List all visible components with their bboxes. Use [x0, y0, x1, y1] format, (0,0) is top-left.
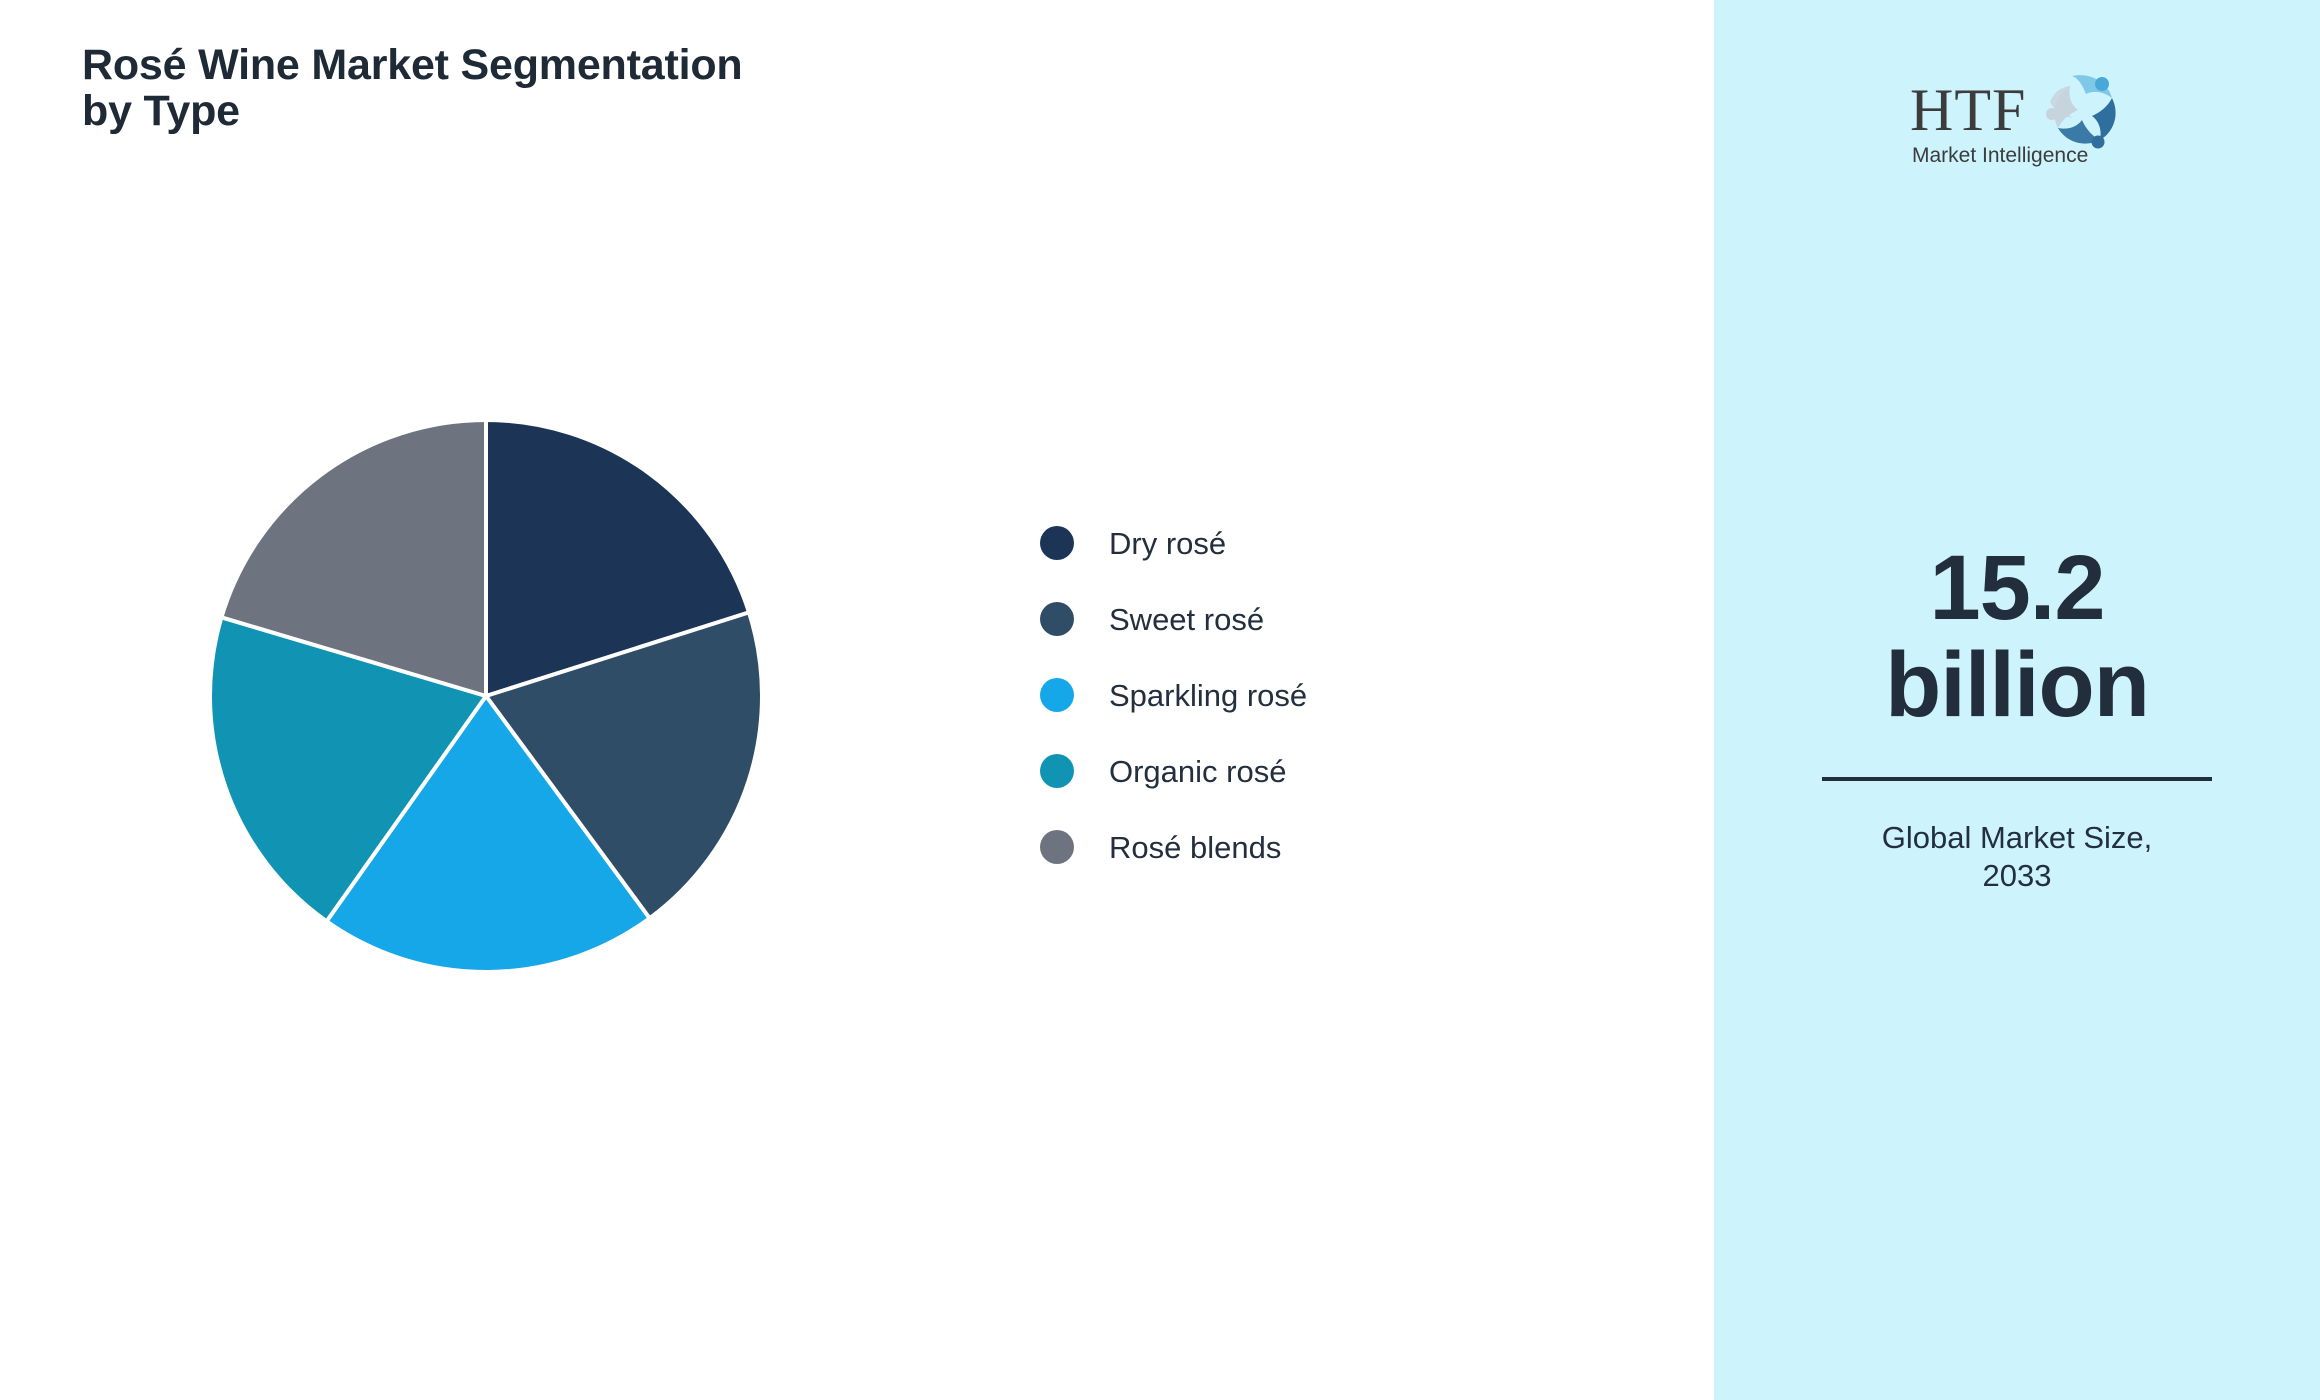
- htf-logo-svg: HTF Market Intelligence: [1902, 62, 2132, 170]
- htf-triskelion-emblem-icon: [2046, 75, 2116, 148]
- page-title: Rosé Wine Market Segmentation by Type: [82, 42, 1012, 135]
- legend-item-sweet-rose[interactable]: Sweet rosé: [1040, 594, 1307, 644]
- legend-item-organic-rose[interactable]: Organic rosé: [1040, 746, 1307, 796]
- legend-item-sparkling-rose[interactable]: Sparkling rosé: [1040, 670, 1307, 720]
- pie-chart: [210, 420, 762, 972]
- stat-block: 15.2 billion Global Market Size, 2033: [1802, 540, 2232, 895]
- chart-legend: Dry rosé Sweet rosé Sparkling rosé Organ…: [1040, 518, 1307, 872]
- infographic-canvas: Rosé Wine Market Segmentation by Type Dr…: [0, 0, 2320, 1400]
- legend-item-label: Organic rosé: [1109, 756, 1286, 787]
- legend-dot-icon: [1040, 678, 1074, 712]
- htf-tagline: Market Intelligence: [1912, 144, 2088, 167]
- legend-dot-icon: [1040, 830, 1074, 864]
- stat-value: 15.2 billion: [1802, 540, 2232, 733]
- htf-wordmark: HTF: [1910, 77, 2026, 143]
- legend-item-dry-rose[interactable]: Dry rosé: [1040, 518, 1307, 568]
- stat-panel: HTF Market Intelligence 15.2 billion Glo…: [1714, 0, 2320, 1400]
- legend-item-label: Dry rosé: [1109, 528, 1226, 559]
- legend-item-label: Sparkling rosé: [1109, 680, 1307, 711]
- pie-chart-svg: [210, 420, 762, 972]
- stat-caption: Global Market Size, 2033: [1802, 819, 2232, 895]
- legend-item-label: Rosé blends: [1109, 832, 1281, 863]
- legend-item-rose-blends[interactable]: Rosé blends: [1040, 822, 1307, 872]
- stat-divider: [1822, 777, 2212, 781]
- chart-panel: Rosé Wine Market Segmentation by Type Dr…: [0, 0, 1714, 1400]
- legend-dot-icon: [1040, 526, 1074, 560]
- legend-item-label: Sweet rosé: [1109, 604, 1264, 635]
- legend-dot-icon: [1040, 754, 1074, 788]
- htf-logo: HTF Market Intelligence: [1902, 62, 2132, 170]
- legend-dot-icon: [1040, 602, 1074, 636]
